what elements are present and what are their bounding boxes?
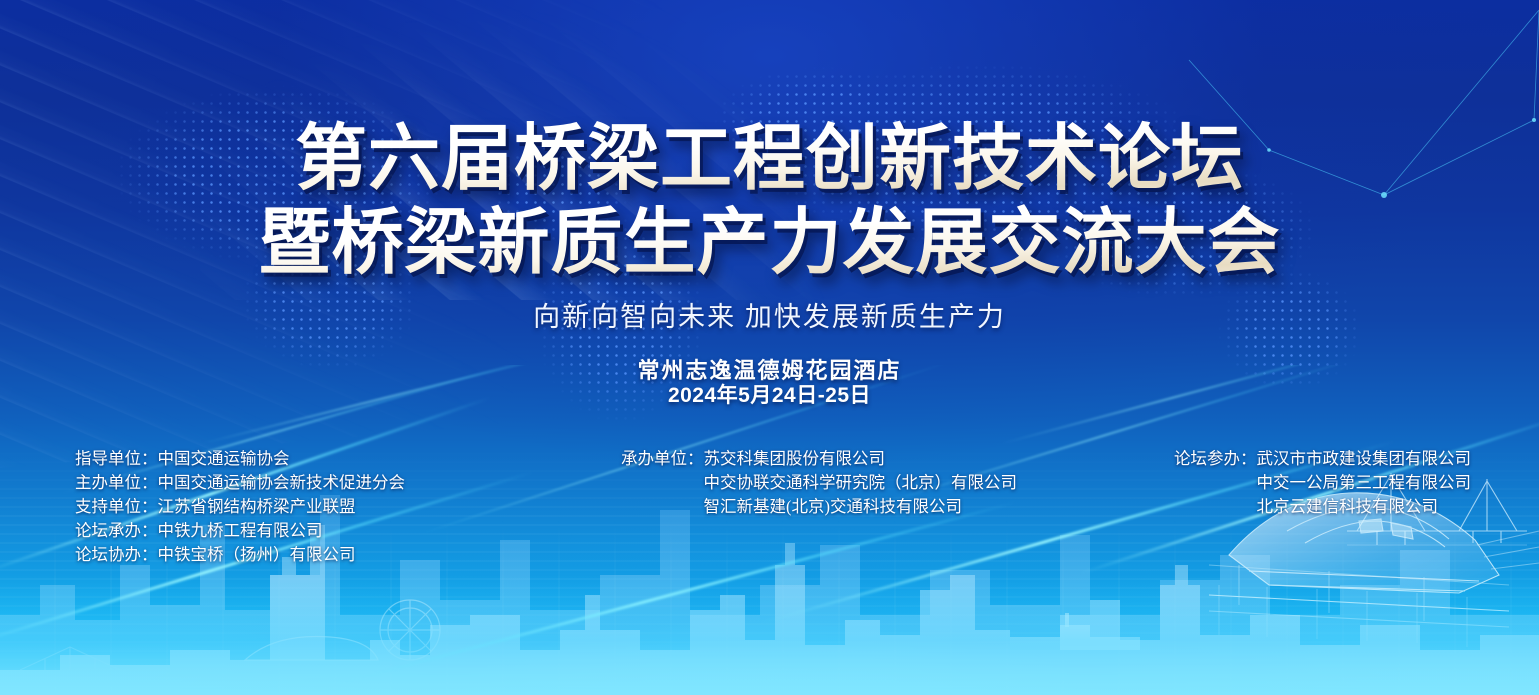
sponsor-row: 承办单位： 苏交科集团股份有限公司: [621, 447, 1017, 471]
sponsor-row: 承办单位： 智汇新基建(北京)交通科技有限公司: [621, 495, 1017, 519]
sponsor-row: 论坛参办： 武汉市市政建设集团有限公司: [1174, 447, 1471, 471]
sponsor-label: 论坛承办：: [75, 519, 158, 543]
sponsor-value: 中铁九桥工程有限公司: [158, 519, 323, 543]
sponsor-row: 支持单位： 江苏省钢结构桥梁产业联盟: [75, 495, 405, 519]
sponsor-value: 苏交科集团股份有限公司: [704, 447, 886, 471]
sponsor-label: 论坛协办：: [75, 543, 158, 567]
sponsor-column-right: 论坛参办： 武汉市市政建设集团有限公司 论坛参办： 中交一公局第三工程有限公司 …: [1174, 447, 1471, 519]
sponsor-value: 中国交通运输协会: [158, 447, 290, 471]
sponsor-row: 主办单位： 中国交通运输协会新技术促进分会: [75, 471, 405, 495]
sponsor-value: 北京云建信科技有限公司: [1257, 495, 1439, 519]
conference-banner: 第六届桥梁工程创新技术论坛 暨桥梁新质生产力发展交流大会 向新向智向未来 加快发…: [0, 0, 1539, 695]
sponsor-row: 指导单位： 中国交通运输协会: [75, 447, 405, 471]
sponsor-label: 主办单位：: [75, 471, 158, 495]
sponsor-column-middle: 承办单位： 苏交科集团股份有限公司 承办单位： 中交协联交通科学研究院（北京）有…: [621, 447, 1017, 519]
main-title: 第六届桥梁工程创新技术论坛 暨桥梁新质生产力发展交流大会: [0, 116, 1539, 284]
event-date: 2024年5月24日-25日: [0, 379, 1539, 409]
sponsor-columns: 指导单位： 中国交通运输协会 主办单位： 中国交通运输协会新技术促进分会 支持单…: [0, 447, 1539, 567]
banner-content: 第六届桥梁工程创新技术论坛 暨桥梁新质生产力发展交流大会 向新向智向未来 加快发…: [0, 0, 1539, 695]
sponsor-value: 中交协联交通科学研究院（北京）有限公司: [704, 471, 1018, 495]
sponsor-value: 中铁宝桥（扬州）有限公司: [158, 543, 356, 567]
sponsor-row: 承办单位： 中交协联交通科学研究院（北京）有限公司: [621, 471, 1017, 495]
sponsor-value: 智汇新基建(北京)交通科技有限公司: [704, 495, 963, 519]
sponsor-label: 承办单位：: [621, 447, 704, 471]
sponsor-value: 江苏省钢结构桥梁产业联盟: [158, 495, 356, 519]
sponsor-row: 论坛参办： 北京云建信科技有限公司: [1174, 495, 1471, 519]
sponsor-value: 武汉市市政建设集团有限公司: [1257, 447, 1472, 471]
sponsor-value: 中交一公局第三工程有限公司: [1257, 471, 1472, 495]
title-line-1: 第六届桥梁工程创新技术论坛: [0, 116, 1539, 200]
slogan: 向新向智向未来 加快发展新质生产力: [0, 295, 1539, 334]
sponsor-label: 指导单位：: [75, 447, 158, 471]
sponsor-label: 论坛参办：: [1174, 447, 1257, 471]
title-line-2: 暨桥梁新质生产力发展交流大会: [0, 200, 1539, 284]
sponsor-row: 论坛协办： 中铁宝桥（扬州）有限公司: [75, 543, 405, 567]
sponsor-label: 支持单位：: [75, 495, 158, 519]
sponsor-row: 论坛参办： 中交一公局第三工程有限公司: [1174, 471, 1471, 495]
sponsor-row: 论坛承办： 中铁九桥工程有限公司: [75, 519, 405, 543]
sponsor-column-left: 指导单位： 中国交通运输协会 主办单位： 中国交通运输协会新技术促进分会 支持单…: [75, 447, 405, 567]
sponsor-value: 中国交通运输协会新技术促进分会: [158, 471, 406, 495]
